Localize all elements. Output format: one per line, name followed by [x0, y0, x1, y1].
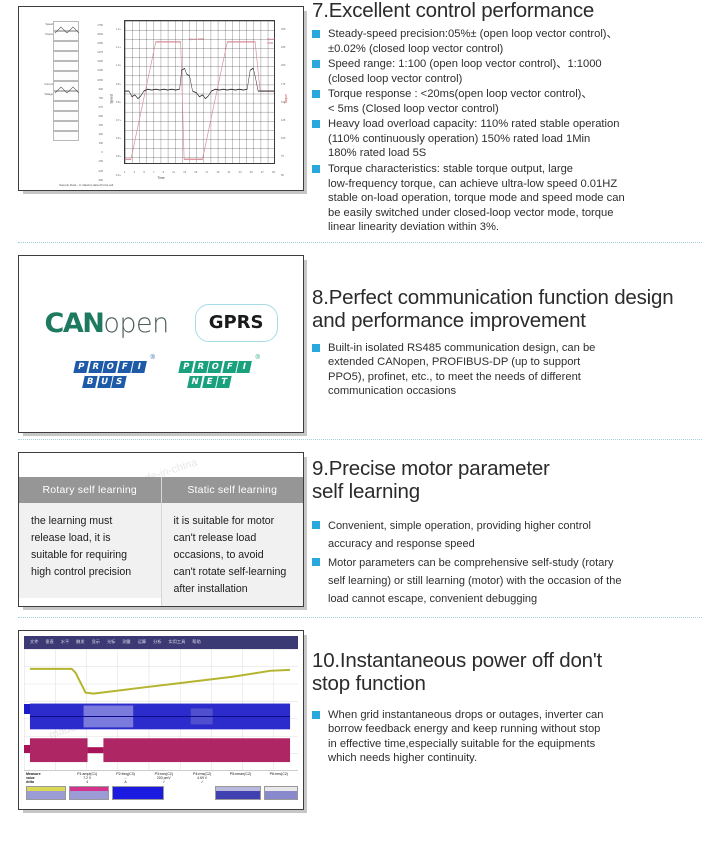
bullet-item: Heavy load overload capacity: 110% rated… — [312, 117, 708, 161]
section-8-bullet-list: Built-in isolated RS485 communication de… — [312, 341, 708, 399]
measurement-delta — [221, 780, 259, 784]
table-header-cell: Static self learning — [162, 477, 304, 503]
section-8: CAN open GPRS PROFI BUS — [0, 249, 720, 433]
bullet-square-icon — [312, 558, 320, 566]
bullet-text: Torque response : <20ms(open loop vector… — [328, 88, 593, 115]
scope-measurement-panel: Measure P1:ampl(C1) P2:freq(C3) P3:rms(C… — [24, 772, 298, 806]
chart-footnote: Sample Data - C:\data\vf-data-PLOet.adt — [59, 183, 113, 187]
profinet-bottom-line: NET — [187, 375, 249, 388]
oscilloscope-card: 文件 垂直 水平 触发 显示 光标 测量 运算 分析 实用工具 帮助 — [18, 630, 304, 810]
product-feature-page: Speed Torque Current Voltage 17501600145… — [0, 0, 720, 843]
canopen-light-text: open — [103, 308, 168, 339]
measurement-delta: A — [106, 780, 144, 784]
chart-x-axis-title: Time — [19, 176, 303, 180]
scope-menu-item[interactable]: 测量 — [122, 639, 130, 645]
communication-logos-card: CAN open GPRS PROFI BUS — [18, 255, 304, 433]
table-column-static: Static self learning it is suitable for … — [162, 477, 304, 606]
bullet-item: When grid instantaneous drops or outages… — [312, 708, 708, 766]
legend-label-3: Voltage — [44, 93, 53, 96]
bullet-text: When grid instantaneous drops or outages… — [328, 709, 604, 765]
scope-menu-item[interactable]: 显示 — [92, 639, 100, 645]
table-body-cell: the learning must release load, it is su… — [19, 503, 161, 598]
bullet-item: Built-in isolated RS485 communication de… — [312, 341, 708, 399]
measurement-delta: 4 — [68, 780, 106, 784]
bullet-item: Convenient, simple operation, providing … — [312, 518, 708, 554]
bullet-item: Torque response : <20ms(open loop vector… — [312, 87, 708, 116]
channel-chip-c3[interactable] — [112, 786, 164, 800]
section-8-text: 8.Perfect communication function design … — [312, 249, 720, 433]
timebase-chip[interactable] — [215, 786, 261, 800]
legend-label-1: Torque — [45, 33, 53, 36]
bullet-item: Steady-speed precision:05%± (open loop v… — [312, 27, 708, 56]
scope-trace-ch3-envelope — [30, 738, 88, 762]
bullet-square-icon — [312, 30, 320, 38]
chart-x-axis-ticks: 1357911 1315171921 23252729 — [124, 171, 275, 174]
bullet-square-icon — [312, 90, 320, 98]
self-learning-table-card: made-in-china Rotary self learning the l… — [18, 452, 304, 607]
scope-waveform-area: made-in-china — [24, 649, 298, 771]
gprs-logo: GPRS — [195, 304, 278, 342]
channel-chip-c1[interactable] — [26, 786, 66, 800]
chart-annotation-1: Speed 1500 — [267, 37, 275, 45]
registered-mark-icon: ® — [150, 355, 154, 361]
bullet-item: Torque characteristics: stable torque ou… — [312, 162, 708, 235]
legend-label-2: Current — [44, 83, 53, 86]
table-header-cell: Rotary self learning — [19, 477, 161, 503]
legend-label-0: Speed — [45, 23, 53, 26]
section-9-bullet-list: Convenient, simple operation, providing … — [312, 518, 708, 609]
measure-row-label: delta — [26, 780, 68, 784]
section-9-text: 9.Precise motor parameter self learning … — [312, 446, 720, 611]
bullet-square-icon — [312, 60, 320, 68]
chart-legend — [53, 21, 79, 141]
section-8-heading: 8.Perfect communication function design … — [312, 287, 708, 333]
section-8-media: CAN open GPRS PROFI BUS — [0, 249, 312, 433]
bullet-text: Heavy load overload capacity: 110% rated… — [328, 118, 619, 159]
registered-mark-icon: ® — [255, 355, 259, 361]
channel-chip-c2[interactable] — [69, 786, 109, 800]
bullet-item: Motor parameters can be comprehensive se… — [312, 555, 708, 608]
section-9-media: made-in-china Rotary self learning the l… — [0, 446, 312, 611]
bullet-square-icon — [312, 165, 320, 173]
bullet-square-icon — [312, 344, 320, 352]
scope-menu-item[interactable]: 文件 — [30, 639, 38, 645]
bullet-text: Convenient, simple operation, providing … — [328, 520, 591, 550]
section-10-text: 10.Instantaneous power off don't stop fu… — [312, 624, 720, 810]
section-9: made-in-china Rotary self learning the l… — [0, 446, 720, 611]
scope-menu-item[interactable]: 帮助 — [192, 639, 200, 645]
canopen-bold-text: CAN — [45, 308, 104, 339]
logo-row-top: CAN open GPRS — [45, 304, 278, 342]
scope-menu-bar[interactable]: 文件 垂直 水平 触发 显示 光标 测量 运算 分析 实用工具 帮助 — [24, 636, 298, 649]
logo-row-bottom: PROFI BUS ® PROFI — [73, 360, 249, 389]
section-7-heading: 7.Excellent control performance — [312, 0, 708, 23]
bullet-item: Speed range: 1:100 (open loop vector con… — [312, 57, 708, 86]
scope-trace-ch1 — [30, 669, 290, 694]
trigger-chip[interactable] — [264, 786, 298, 800]
bullet-square-icon — [312, 521, 320, 529]
chart-annotation-0: Speed 1500 — [189, 37, 204, 41]
section-10: 文件 垂直 水平 触发 显示 光标 测量 运算 分析 实用工具 帮助 — [0, 624, 720, 810]
bullet-text: Steady-speed precision:05%± (open loop v… — [328, 28, 618, 55]
measurement-delta: ✓ — [145, 780, 183, 784]
series-speed — [125, 42, 274, 159]
profibus-bottom-line: BUS — [82, 375, 144, 388]
bullet-text: Motor parameters can be comprehensive se… — [328, 557, 621, 605]
profinet-logo: PROFI NET ® — [175, 360, 252, 389]
section-10-bullet-list: When grid instantaneous drops or outages… — [312, 708, 708, 766]
chart-y-axis-ticks: 17501600145013751300 12001050900750675 6… — [81, 21, 103, 185]
scope-menu-item[interactable]: 垂直 — [45, 639, 53, 645]
bullet-text: Torque characteristics: stable torque ou… — [328, 163, 625, 233]
section-9-heading: 9.Precise motor parameter self learning — [312, 458, 708, 504]
divider-8-9 — [18, 439, 702, 440]
scope-menu-item[interactable]: 光标 — [107, 639, 115, 645]
scope-menu-item[interactable]: 触发 — [76, 639, 84, 645]
scope-menu-item[interactable]: 分析 — [153, 639, 161, 645]
control-performance-chart-card: Speed Torque Current Voltage 17501600145… — [18, 6, 304, 191]
scope-channel-chips[interactable] — [24, 786, 298, 800]
chart-plot-area: Speed 1500 Speed 1500 — [124, 20, 275, 164]
scope-menu-item[interactable]: 实用工具 — [169, 639, 186, 645]
measurement-delta: ✓ — [183, 780, 221, 784]
divider-9-10 — [18, 617, 702, 618]
section-7-text: 7.Excellent control performance Steady-s… — [312, 0, 720, 236]
profinet-top-line: PROFI — [178, 360, 252, 373]
section-7: Speed Torque Current Voltage 17501600145… — [0, 0, 720, 236]
scope-menu-item[interactable]: 水平 — [61, 639, 69, 645]
bullet-square-icon — [312, 120, 320, 128]
series-torque — [125, 68, 274, 98]
scope-menu-item[interactable]: 运算 — [138, 639, 146, 645]
chart-y-axis-title: Speed — [110, 94, 114, 103]
table-body-cell: it is suitable for motor can't release l… — [162, 503, 304, 606]
profibus-logo: PROFI BUS ® — [70, 360, 147, 389]
chart-y2-axis-title: Torque — [284, 94, 288, 104]
section-10-media: 文件 垂直 水平 触发 显示 光标 测量 运算 分析 实用工具 帮助 — [0, 624, 312, 810]
measurement-delta — [260, 780, 298, 784]
bullet-square-icon — [312, 711, 320, 719]
self-learning-table: Rotary self learning the learning must r… — [19, 477, 303, 606]
table-column-rotary: Rotary self learning the learning must r… — [19, 477, 162, 606]
section-10-heading: 10.Instantaneous power off don't stop fu… — [312, 650, 708, 696]
profibus-top-line: PROFI — [73, 360, 147, 373]
section-7-bullet-list: Steady-speed precision:05%± (open loop v… — [312, 27, 708, 235]
chart-canvas: Speed Torque Current Voltage 17501600145… — [19, 7, 303, 190]
canopen-logo: CAN open — [45, 308, 169, 339]
bullet-text: Built-in isolated RS485 communication de… — [328, 342, 595, 398]
bullet-text: Speed range: 1:100 (open loop vector con… — [328, 58, 602, 85]
divider-7-8 — [18, 242, 702, 243]
section-7-media: Speed Torque Current Voltage 17501600145… — [0, 0, 312, 236]
